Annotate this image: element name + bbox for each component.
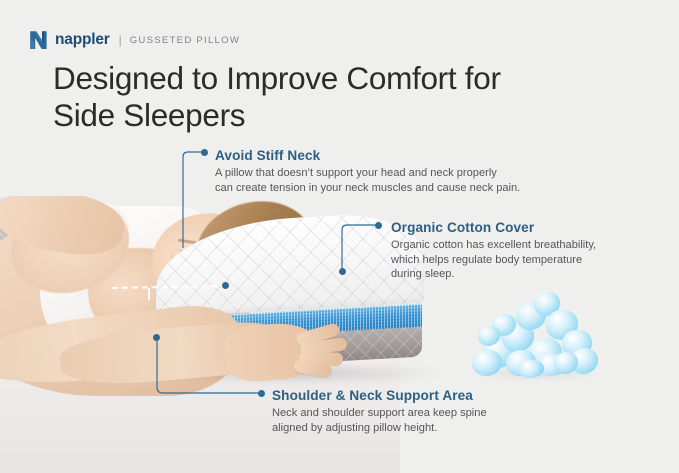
callout-dot-icon-shoulder-neck-support — [258, 390, 265, 397]
callout-body-line: during sleep. — [391, 267, 666, 281]
callout-body: A pillow that doesn’t support your head … — [215, 166, 610, 195]
callout-dot-icon-avoid-stiff-neck — [201, 149, 208, 156]
callout-body-line: can create tension in your neck muscles … — [215, 181, 610, 195]
callout-anchor-dot-gusset — [153, 334, 160, 341]
brand-name: nappler — [55, 31, 110, 49]
callout-body: Organic cotton has excellent breathabili… — [391, 238, 666, 281]
nappler-n-logomark-icon — [29, 30, 48, 50]
pillow-product — [156, 297, 421, 373]
page-title-line-2: Side Sleepers — [53, 97, 643, 134]
product-category-label: GUSSETED PILLOW — [130, 35, 240, 46]
shredded-memory-foam-cluster — [472, 292, 598, 376]
callout-title: Shoulder & Neck Support Area — [272, 388, 602, 404]
brand-lockup: nappler | GUSSETED PILLOW — [29, 30, 240, 50]
callout-body-line: Neck and shoulder support area keep spin… — [272, 406, 602, 420]
page-title-line-1: Designed to Improve Comfort for — [53, 60, 643, 97]
callout-title: Avoid Stiff Neck — [215, 148, 610, 164]
alignment-guide-dot — [222, 282, 229, 289]
brand-divider: | — [119, 33, 122, 47]
callout-dot-icon-organic-cotton-cover — [375, 222, 382, 229]
callout-organic-cotton-cover: Organic Cotton Cover Organic cotton has … — [391, 220, 666, 282]
callout-body-line: aligned by adjusting pillow height. — [272, 421, 602, 435]
callout-body-line: Organic cotton has excellent breathabili… — [391, 238, 666, 252]
callout-body: Neck and shoulder support area keep spin… — [272, 406, 602, 435]
callout-avoid-stiff-neck: Avoid Stiff Neck A pillow that doesn’t s… — [215, 148, 610, 195]
callout-anchor-dot-head — [339, 268, 346, 275]
callout-body-line: which helps regulate body temperature — [391, 253, 666, 267]
spine-alignment-tick — [148, 288, 150, 300]
callout-body-line: A pillow that doesn’t support your head … — [215, 166, 610, 180]
infographic-canvas: nappler | GUSSETED PILLOW Designed to Im… — [0, 0, 679, 473]
callout-shoulder-neck-support-area: Shoulder & Neck Support Area Neck and sh… — [272, 388, 602, 435]
callout-title: Organic Cotton Cover — [391, 220, 666, 236]
page-title: Designed to Improve Comfort for Side Sle… — [53, 60, 643, 135]
